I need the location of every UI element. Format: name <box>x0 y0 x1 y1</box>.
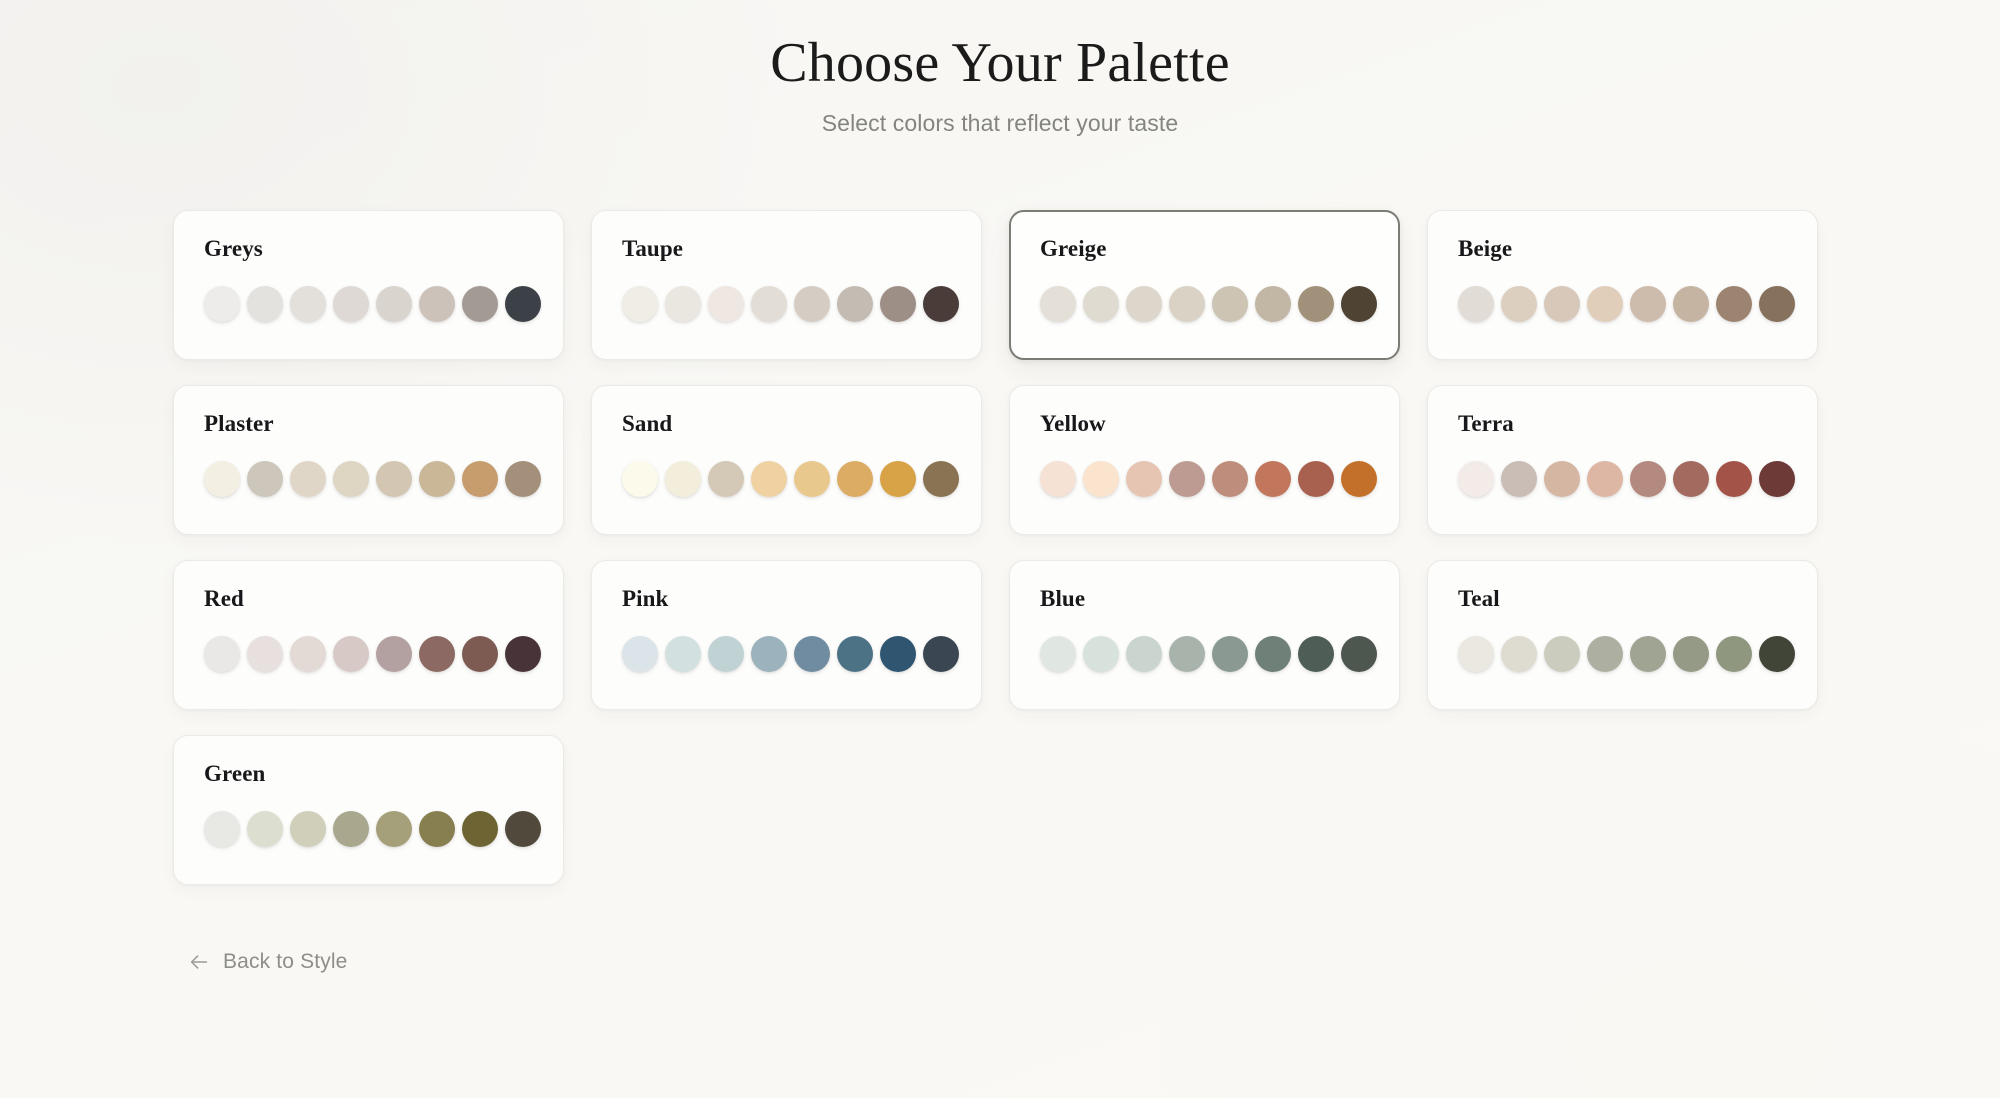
color-swatch[interactable] <box>290 636 326 672</box>
palette-card-terra[interactable]: Terra <box>1427 385 1818 535</box>
color-swatch[interactable] <box>419 811 455 847</box>
color-swatch[interactable] <box>1759 636 1795 672</box>
color-swatch[interactable] <box>1587 461 1623 497</box>
color-swatch[interactable] <box>923 286 959 322</box>
color-swatch[interactable] <box>1501 286 1537 322</box>
color-swatch[interactable] <box>708 461 744 497</box>
palette-card-pink[interactable]: Pink <box>591 560 982 710</box>
palette-card-teal[interactable]: Teal <box>1427 560 1818 710</box>
color-swatch[interactable] <box>1759 461 1795 497</box>
color-swatch[interactable] <box>505 811 541 847</box>
palette-card-greys[interactable]: Greys <box>173 210 564 360</box>
color-swatch[interactable] <box>1169 636 1205 672</box>
palette-card-plaster[interactable]: Plaster <box>173 385 564 535</box>
swatch-row <box>204 636 533 672</box>
color-swatch[interactable] <box>204 461 240 497</box>
color-swatch[interactable] <box>1341 286 1377 322</box>
swatch-row <box>1458 461 1787 497</box>
color-swatch[interactable] <box>1255 636 1291 672</box>
color-swatch[interactable] <box>462 286 498 322</box>
color-swatch[interactable] <box>1716 286 1752 322</box>
color-swatch[interactable] <box>1126 461 1162 497</box>
color-swatch[interactable] <box>1673 636 1709 672</box>
swatch-row <box>1458 286 1787 322</box>
color-swatch[interactable] <box>333 811 369 847</box>
color-swatch[interactable] <box>290 461 326 497</box>
color-swatch[interactable] <box>462 461 498 497</box>
swatch-row <box>1040 636 1369 672</box>
color-swatch[interactable] <box>462 636 498 672</box>
palette-name: Teal <box>1458 587 1787 610</box>
palette-card-sand[interactable]: Sand <box>591 385 982 535</box>
page-header: Choose Your Palette Select colors that r… <box>0 0 2000 137</box>
color-swatch[interactable] <box>376 636 412 672</box>
color-swatch[interactable] <box>419 636 455 672</box>
palette-card-red[interactable]: Red <box>173 560 564 710</box>
color-swatch[interactable] <box>505 636 541 672</box>
color-swatch[interactable] <box>1040 461 1076 497</box>
palette-name: Beige <box>1458 237 1787 260</box>
swatch-row <box>622 286 951 322</box>
color-swatch[interactable] <box>837 636 873 672</box>
color-swatch[interactable] <box>1630 636 1666 672</box>
color-swatch[interactable] <box>1126 286 1162 322</box>
color-swatch[interactable] <box>665 461 701 497</box>
color-swatch[interactable] <box>880 286 916 322</box>
color-swatch[interactable] <box>462 811 498 847</box>
swatch-row <box>622 636 951 672</box>
color-swatch[interactable] <box>1341 461 1377 497</box>
color-swatch[interactable] <box>376 811 412 847</box>
color-swatch[interactable] <box>1458 636 1494 672</box>
color-swatch[interactable] <box>1341 636 1377 672</box>
color-swatch[interactable] <box>290 811 326 847</box>
color-swatch[interactable] <box>376 286 412 322</box>
page-title: Choose Your Palette <box>0 30 2000 96</box>
color-swatch[interactable] <box>794 286 830 322</box>
color-swatch[interactable] <box>923 461 959 497</box>
color-swatch[interactable] <box>419 286 455 322</box>
color-swatch[interactable] <box>1673 286 1709 322</box>
color-swatch[interactable] <box>419 461 455 497</box>
color-swatch[interactable] <box>1126 636 1162 672</box>
swatch-row <box>1458 636 1787 672</box>
color-swatch[interactable] <box>1630 461 1666 497</box>
color-swatch[interactable] <box>880 461 916 497</box>
color-swatch[interactable] <box>751 286 787 322</box>
color-swatch[interactable] <box>1458 286 1494 322</box>
color-swatch[interactable] <box>1716 636 1752 672</box>
palette-grid: GreysTaupeGreigeBeigePlasterSandYellowTe… <box>173 210 1827 885</box>
palette-chooser-screen: Choose Your Palette Select colors that r… <box>0 0 2000 1098</box>
color-swatch[interactable] <box>247 811 283 847</box>
palette-name: Green <box>204 762 533 785</box>
color-swatch[interactable] <box>1587 636 1623 672</box>
swatch-row <box>204 461 533 497</box>
color-swatch[interactable] <box>333 636 369 672</box>
color-swatch[interactable] <box>1212 286 1248 322</box>
color-swatch[interactable] <box>1544 286 1580 322</box>
palette-name: Greige <box>1040 237 1369 260</box>
color-swatch[interactable] <box>1040 286 1076 322</box>
swatch-row <box>204 286 533 322</box>
color-swatch[interactable] <box>794 636 830 672</box>
color-swatch[interactable] <box>1083 286 1119 322</box>
swatch-row <box>622 461 951 497</box>
color-swatch[interactable] <box>1212 461 1248 497</box>
color-swatch[interactable] <box>1298 286 1334 322</box>
color-swatch[interactable] <box>1255 461 1291 497</box>
color-swatch[interactable] <box>1169 286 1205 322</box>
swatch-row <box>204 811 533 847</box>
color-swatch[interactable] <box>333 461 369 497</box>
color-swatch[interactable] <box>923 636 959 672</box>
color-swatch[interactable] <box>247 636 283 672</box>
palette-name: Pink <box>622 587 951 610</box>
color-swatch[interactable] <box>751 636 787 672</box>
color-swatch[interactable] <box>1298 636 1334 672</box>
color-swatch[interactable] <box>1212 636 1248 672</box>
color-swatch[interactable] <box>1716 461 1752 497</box>
color-swatch[interactable] <box>247 286 283 322</box>
palette-name: Greys <box>204 237 533 260</box>
color-swatch[interactable] <box>1673 461 1709 497</box>
palette-name: Plaster <box>204 412 533 435</box>
color-swatch[interactable] <box>1630 286 1666 322</box>
palette-name: Blue <box>1040 587 1369 610</box>
color-swatch[interactable] <box>708 286 744 322</box>
color-swatch[interactable] <box>837 461 873 497</box>
palette-card-blue[interactable]: Blue <box>1009 560 1400 710</box>
swatch-row <box>1040 286 1369 322</box>
color-swatch[interactable] <box>622 636 658 672</box>
color-swatch[interactable] <box>333 286 369 322</box>
color-swatch[interactable] <box>505 461 541 497</box>
color-swatch[interactable] <box>247 461 283 497</box>
color-swatch[interactable] <box>880 636 916 672</box>
color-swatch[interactable] <box>505 286 541 322</box>
color-swatch[interactable] <box>665 286 701 322</box>
palette-card-beige[interactable]: Beige <box>1427 210 1818 360</box>
color-swatch[interactable] <box>1544 461 1580 497</box>
color-swatch[interactable] <box>204 286 240 322</box>
palette-name: Sand <box>622 412 951 435</box>
swatch-row <box>1040 461 1369 497</box>
color-swatch[interactable] <box>1587 286 1623 322</box>
color-swatch[interactable] <box>1298 461 1334 497</box>
color-swatch[interactable] <box>1544 636 1580 672</box>
color-swatch[interactable] <box>751 461 787 497</box>
arrow-left-icon <box>188 951 210 973</box>
palette-name: Yellow <box>1040 412 1369 435</box>
palette-card-greige[interactable]: Greige <box>1009 210 1400 360</box>
color-swatch[interactable] <box>1501 636 1537 672</box>
palette-card-taupe[interactable]: Taupe <box>591 210 982 360</box>
color-swatch[interactable] <box>1040 636 1076 672</box>
color-swatch[interactable] <box>1083 461 1119 497</box>
palette-card-yellow[interactable]: Yellow <box>1009 385 1400 535</box>
page-subtitle: Select colors that reflect your taste <box>0 110 2000 137</box>
color-swatch[interactable] <box>1169 461 1205 497</box>
palette-name: Taupe <box>622 237 951 260</box>
color-swatch[interactable] <box>1501 461 1537 497</box>
palette-card-green[interactable]: Green <box>173 735 564 885</box>
color-swatch[interactable] <box>1759 286 1795 322</box>
color-swatch[interactable] <box>708 636 744 672</box>
color-swatch[interactable] <box>1458 461 1494 497</box>
color-swatch[interactable] <box>376 461 412 497</box>
color-swatch[interactable] <box>622 461 658 497</box>
color-swatch[interactable] <box>622 286 658 322</box>
color-swatch[interactable] <box>204 811 240 847</box>
color-swatch[interactable] <box>665 636 701 672</box>
color-swatch[interactable] <box>1255 286 1291 322</box>
palette-name: Red <box>204 587 533 610</box>
color-swatch[interactable] <box>204 636 240 672</box>
palette-name: Terra <box>1458 412 1787 435</box>
color-swatch[interactable] <box>837 286 873 322</box>
back-to-style-label: Back to Style <box>223 950 348 974</box>
color-swatch[interactable] <box>794 461 830 497</box>
color-swatch[interactable] <box>290 286 326 322</box>
back-to-style-button[interactable]: Back to Style <box>188 950 348 974</box>
color-swatch[interactable] <box>1083 636 1119 672</box>
